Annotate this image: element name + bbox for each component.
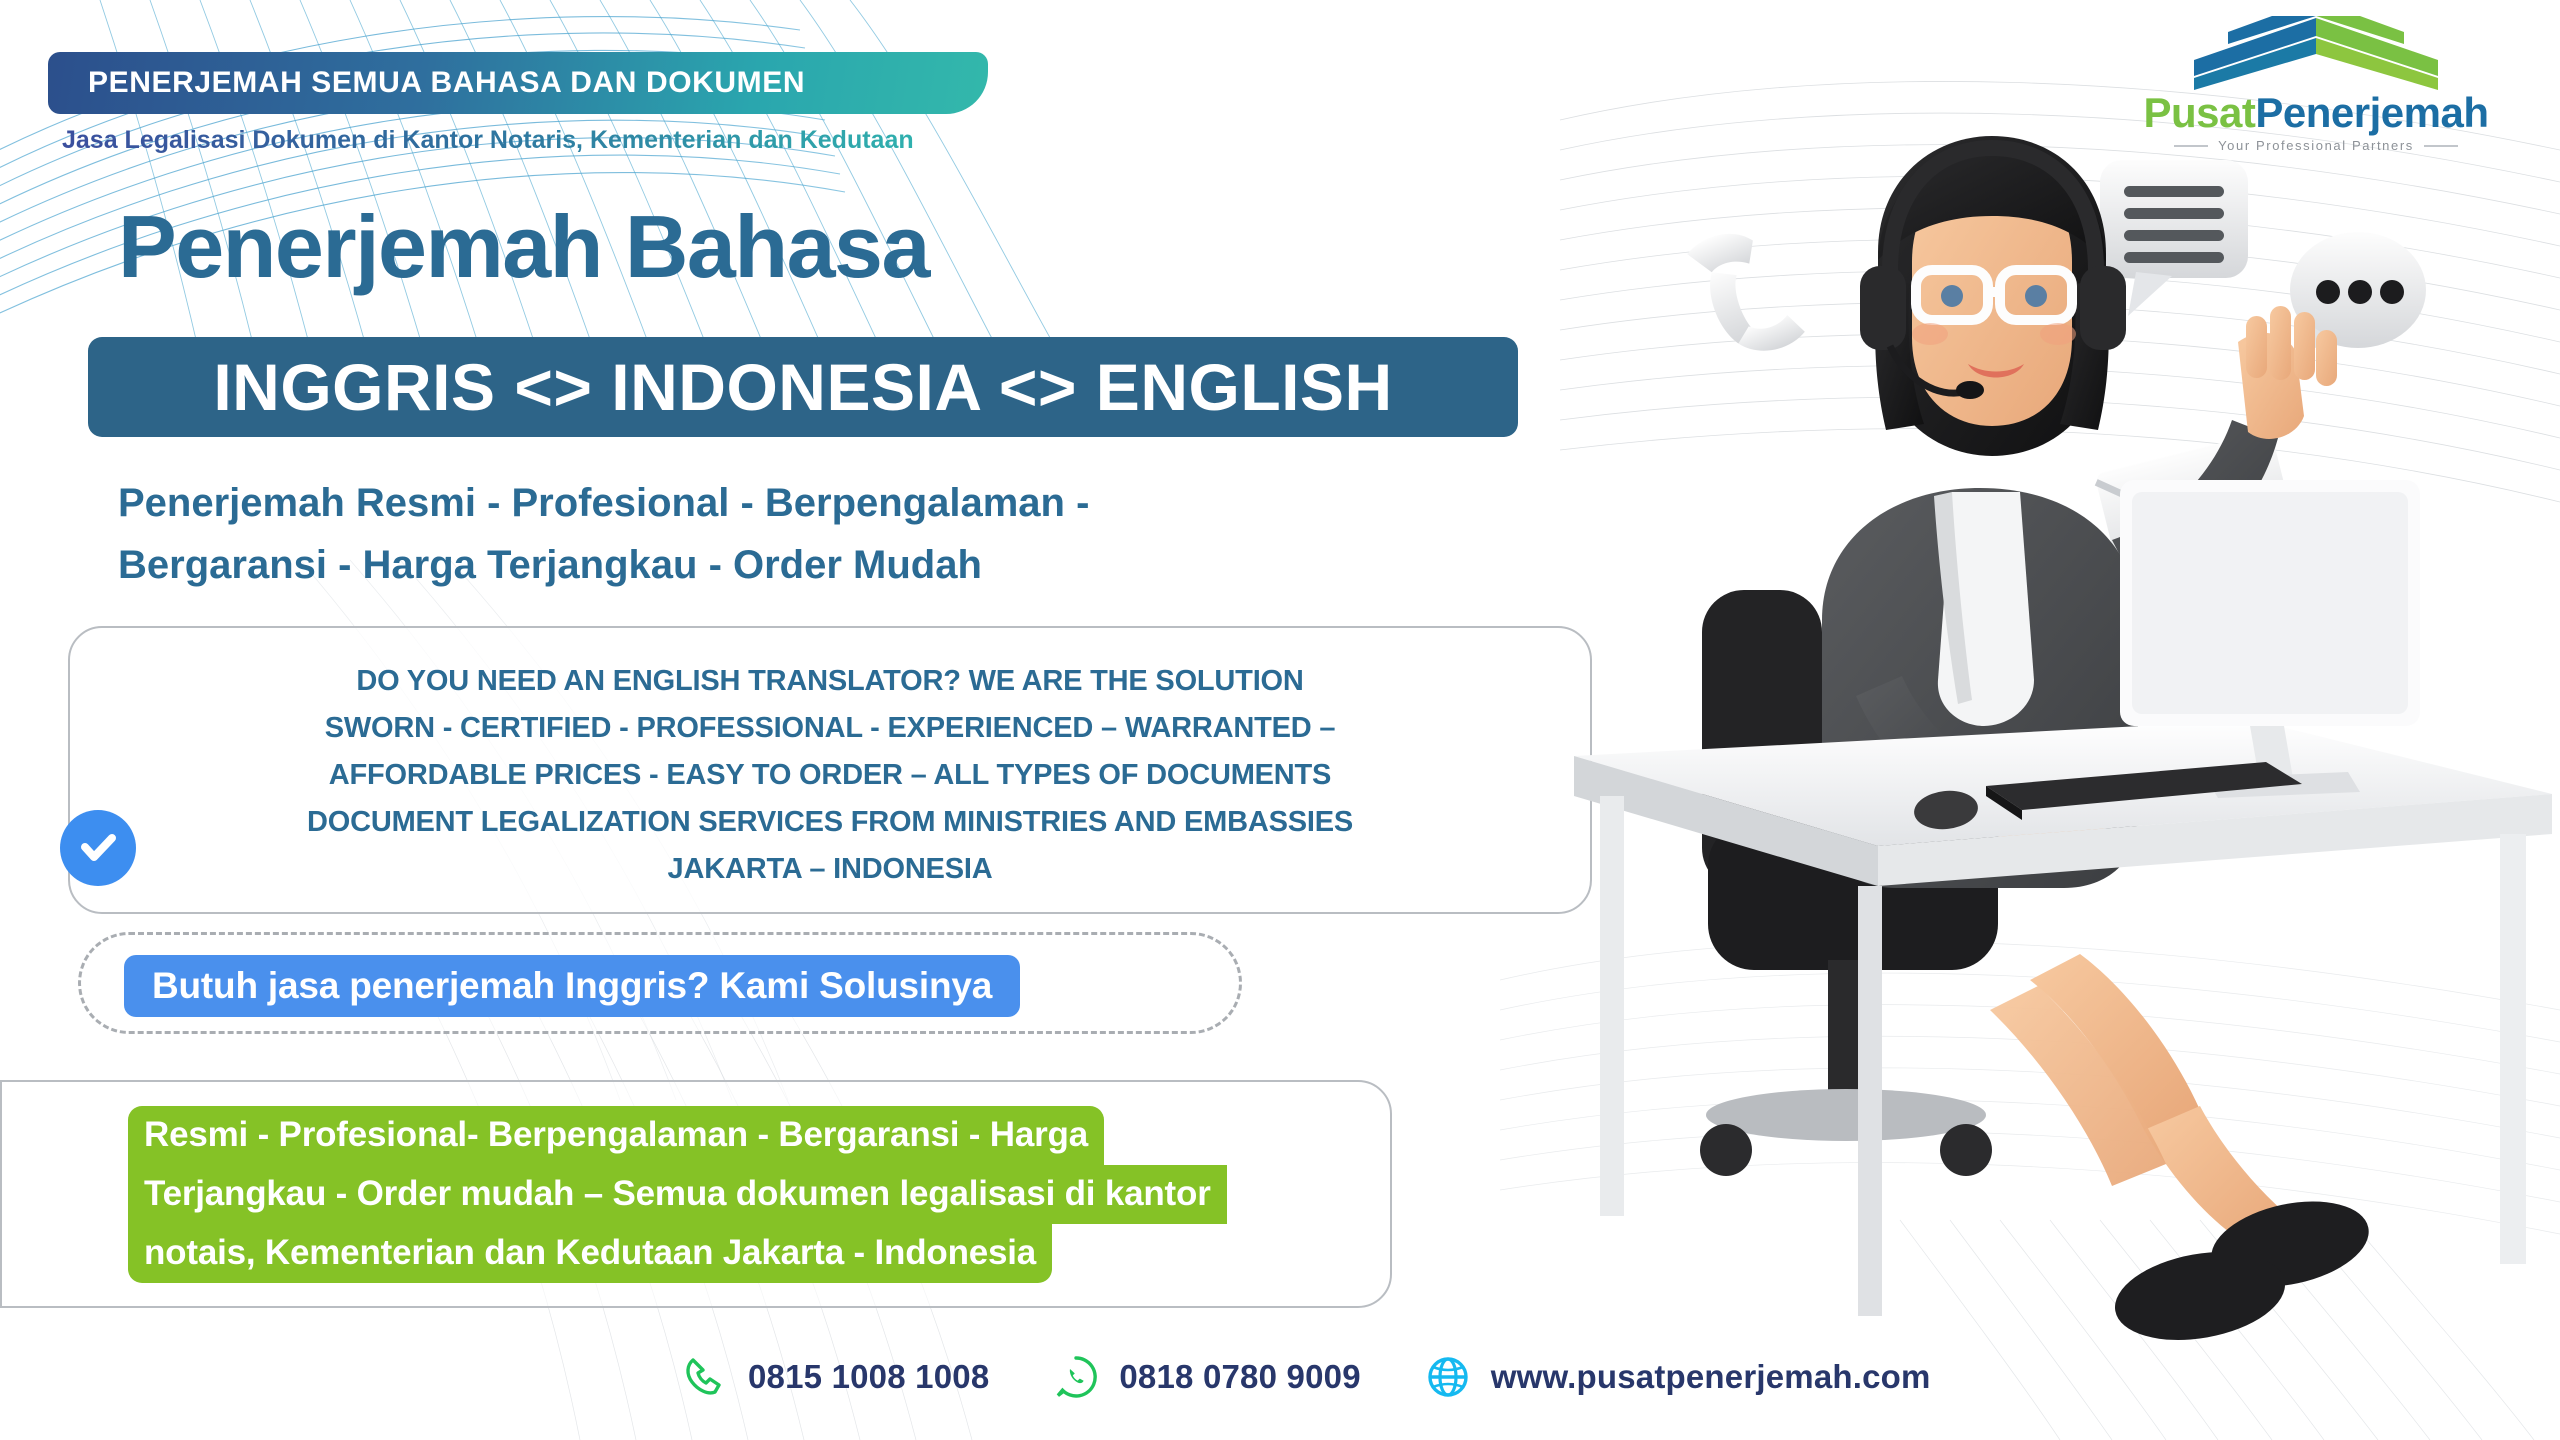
english-copy-line-2: SWORN - CERTIFIED - PROFESSIONAL - EXPER…: [70, 705, 1590, 752]
page-title: Penerjemah Bahasa: [118, 196, 929, 298]
customer-service-agent-3d-illustration: [1560, 120, 2560, 1380]
ribbon-subtitle: Jasa Legalisasi Dokumen di Kantor Notari…: [62, 126, 914, 155]
english-copy-line-1: DO YOU NEED AN ENGLISH TRANSLATOR? WE AR…: [70, 658, 1590, 705]
phone-icon: [680, 1352, 730, 1402]
contact-whatsapp[interactable]: 0818 0780 9009: [1051, 1352, 1360, 1402]
phone-handset-icon: [1685, 218, 1807, 367]
service-subtitle-line-1: Penerjemah Resmi - Profesional - Berpeng…: [118, 472, 1089, 534]
english-copy-line-3: AFFORDABLE PRICES - EASY TO ORDER – ALL …: [70, 752, 1590, 799]
indonesian-copy-line-1: Resmi - Profesional- Berpengalaman - Ber…: [128, 1106, 1104, 1165]
globe-icon: [1423, 1352, 1473, 1402]
cta-label: Butuh jasa penerjemah Inggris? Kami Solu…: [152, 965, 992, 1007]
check-mark-icon: [75, 825, 121, 871]
service-subtitle: Penerjemah Resmi - Profesional - Berpeng…: [118, 472, 1089, 596]
cta-button[interactable]: Butuh jasa penerjemah Inggris? Kami Solu…: [124, 955, 1020, 1017]
top-ribbon: PENERJEMAH SEMUA BAHASA DAN DOKUMEN: [48, 52, 988, 114]
indonesian-copy-line-3: notais, Kementerian dan Kedutaan Jakarta…: [128, 1224, 1052, 1283]
agent-legs: [1990, 954, 2377, 1352]
promo-banner: PENERJEMAH SEMUA BAHASA DAN DOKUMEN Jasa…: [0, 0, 2560, 1440]
whatsapp-icon: [1051, 1352, 1101, 1402]
language-pair-text: INGGRIS <> INDONESIA <> ENGLISH: [213, 349, 1392, 425]
indonesian-copy-text: Resmi - Profesional- Berpengalaman - Ber…: [128, 1106, 1227, 1283]
check-badge-icon: [60, 810, 136, 886]
building-roof-icon: [2191, 16, 2441, 90]
english-copy-line-5: JAKARTA – INDONESIA: [70, 846, 1590, 893]
contact-phone-value: 0815 1008 1008: [748, 1358, 989, 1396]
english-copy-text: DO YOU NEED AN ENGLISH TRANSLATOR? WE AR…: [70, 658, 1590, 893]
ribbon-title: PENERJEMAH SEMUA BAHASA DAN DOKUMEN: [88, 66, 805, 100]
contact-phone[interactable]: 0815 1008 1008: [680, 1352, 989, 1402]
agent-head: [1860, 136, 2126, 456]
english-copy-box: DO YOU NEED AN ENGLISH TRANSLATOR? WE AR…: [68, 626, 1592, 914]
service-subtitle-line-2: Bergaransi - Harga Terjangkau - Order Mu…: [118, 534, 1089, 596]
english-copy-line-4: DOCUMENT LEGALIZATION SERVICES FROM MINI…: [70, 799, 1590, 846]
indonesian-copy-line-2: Terjangkau - Order mudah – Semua dokumen…: [128, 1165, 1227, 1224]
language-pair-bar: INGGRIS <> INDONESIA <> ENGLISH: [88, 337, 1518, 437]
contact-whatsapp-value: 0818 0780 9009: [1119, 1358, 1360, 1396]
